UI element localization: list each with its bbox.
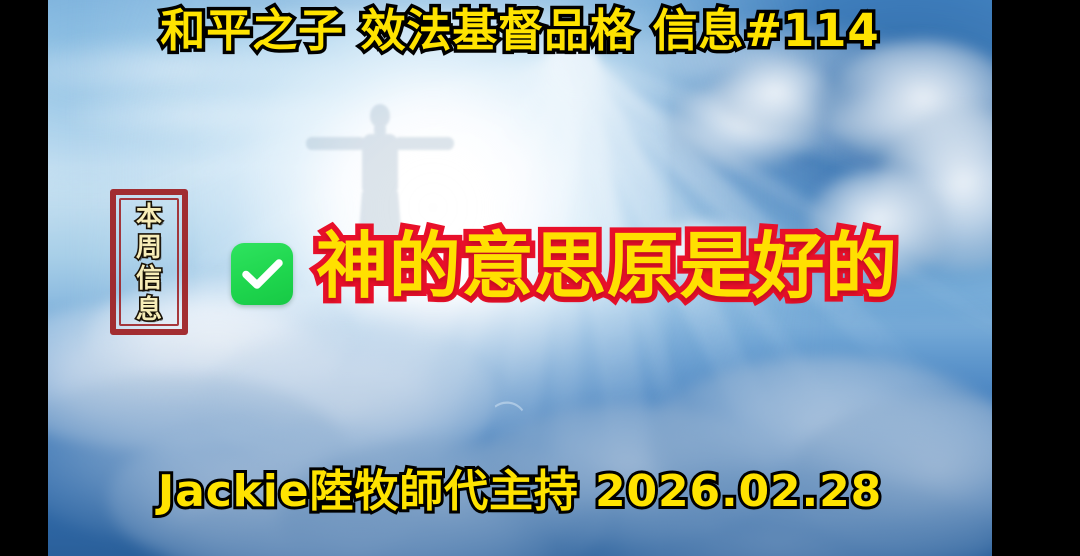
swirl-artifact: ⌒ bbox=[490, 390, 526, 438]
seal-char: 周 bbox=[136, 235, 162, 261]
seal-characters: 本 周 信 息 bbox=[110, 202, 188, 325]
seal-char: 信 bbox=[136, 266, 162, 292]
green-check-badge bbox=[231, 243, 293, 305]
seal-char: 息 bbox=[136, 297, 162, 323]
slide-canvas: ⌒ 本 周 信 息 和平之子 效法基督品格 信息#114 神的意思原是好的 Ja… bbox=[0, 0, 1080, 556]
letterbox-bar-right bbox=[992, 0, 1080, 556]
footer-presenter-and-date: Jackie陸牧師代主持 2026.02.28 bbox=[48, 470, 992, 514]
this-week-message-seal: 本 周 信 息 bbox=[110, 189, 188, 335]
letterbox-bar-left bbox=[0, 0, 48, 556]
main-headline: 神的意思原是好的 bbox=[316, 230, 898, 302]
cloud bbox=[716, 58, 836, 132]
header-title: 和平之子 效法基督品格 信息#114 bbox=[48, 8, 992, 53]
check-icon bbox=[231, 243, 293, 305]
seal-char: 本 bbox=[136, 204, 162, 230]
sky-background: ⌒ 本 周 信 息 和平之子 效法基督品格 信息#114 神的意思原是好的 Ja… bbox=[48, 0, 992, 556]
